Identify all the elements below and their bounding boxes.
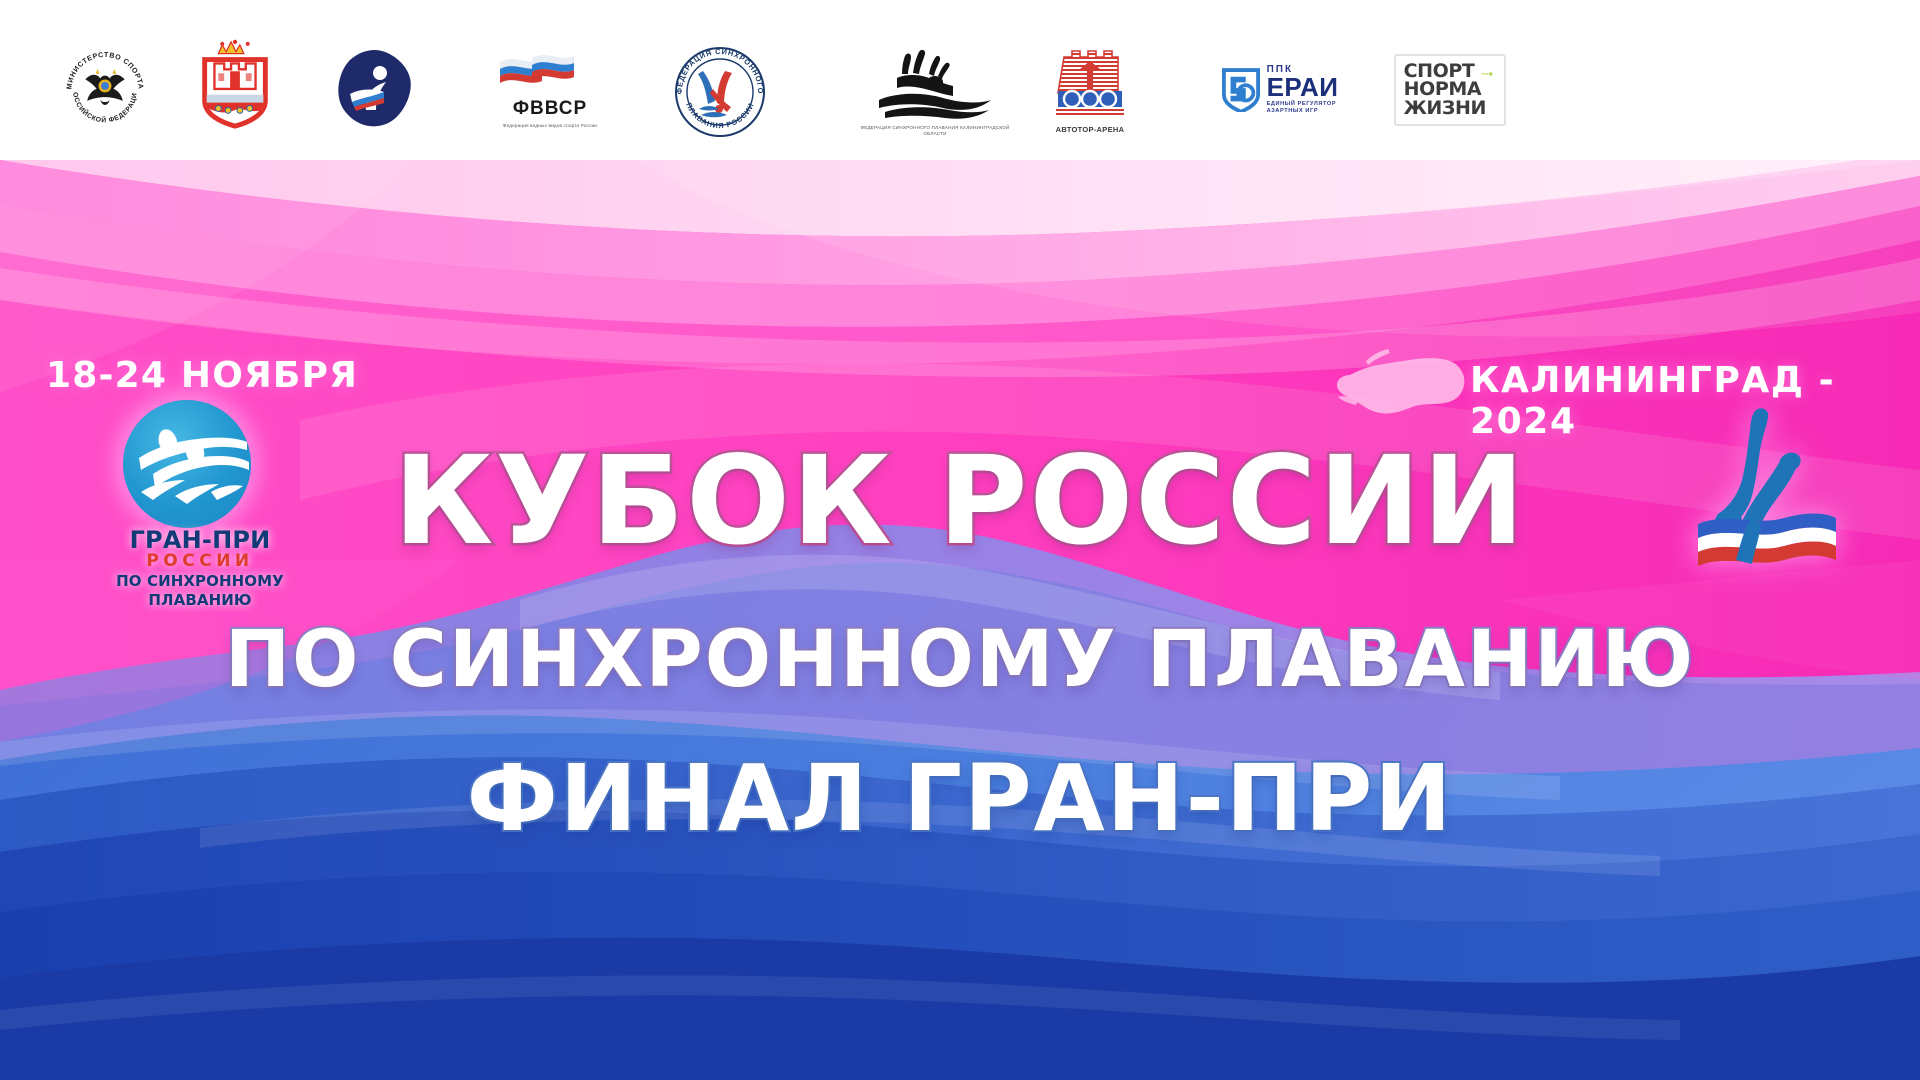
- sponsor-vfso-logo: [330, 48, 420, 128]
- grand-prix-line-3: ПО СИНХРОННОМУ: [95, 573, 305, 590]
- title-line-1: КУБОК РОССИИ: [0, 430, 1920, 572]
- erai-tagline-2: АЗАРТНЫХ ИГР: [1267, 109, 1339, 115]
- avtotor-arena-caption: АВТОТОР-АРЕНА: [1056, 126, 1125, 135]
- snz-word-norma: НОРМА: [1404, 80, 1497, 98]
- sponsor-avtotor-arena-logo: АВТОТОР-АРЕНА: [1035, 40, 1145, 140]
- sponsor-kaliningrad-coat-of-arms-logo: [185, 38, 285, 130]
- snz-word-zhizni: ЖИЗНИ: [1404, 99, 1497, 117]
- erai-shield-icon: [1222, 68, 1260, 112]
- synchro-swimmers-silhouette-icon: [875, 48, 995, 122]
- sponsor-minsport-russia-logo: МИНИСТЕРСТВО СПОРТА РОССИЙСКОЙ ФЕДЕРАЦИИ: [50, 42, 160, 128]
- sponsor-logo-bar: МИНИСТЕРСТВО СПОРТА РОССИЙСКОЙ ФЕДЕРАЦИИ: [0, 0, 1920, 160]
- avtotor-arena-icon: [1046, 45, 1134, 123]
- grand-prix-line-4: ПЛАВАНИЮ: [95, 592, 305, 609]
- minsport-emblem-icon: МИНИСТЕРСТВО СПОРТА РОССИЙСКОЙ ФЕДЕРАЦИИ: [57, 42, 153, 128]
- banner-poster: МИНИСТЕРСТВО СПОРТА РОССИЙСКОЙ ФЕДЕРАЦИИ: [0, 0, 1920, 1080]
- title-line-2: ПО СИНХРОННОМУ ПЛАВАНИЮ: [0, 615, 1920, 705]
- fvvsr-tagline: Федерация водных видов спорта России: [503, 123, 597, 129]
- banner-content: 18-24 НОЯБРЯ КАЛИНИНГРАД - 2024: [0, 0, 1920, 1080]
- title-line-3: ФИНАЛ ГРАН-ПРИ: [0, 745, 1920, 852]
- fvvsr-wordmark: ФВВСР: [513, 98, 587, 120]
- arrow-right-icon: →: [1477, 63, 1496, 80]
- federation-synchro-kaliningrad-caption: ФЕДЕРАЦИЯ СИНХРОННОГО ПЛАВАНИЯ КАЛИНИНГР…: [860, 125, 1010, 136]
- vfso-pentagon-icon: [336, 48, 414, 128]
- sponsor-federation-synchro-kaliningrad-logo: ФЕДЕРАЦИЯ СИНХРОННОГО ПЛАВАНИЯ КАЛИНИНГР…: [860, 44, 1010, 140]
- federation-synchro-russia-icon: ФЕДЕРАЦИЯ СИНХРОННОГО ПЛАВАНИЯ РОССИИ: [673, 45, 767, 139]
- kaliningrad-coat-of-arms-icon: [192, 38, 278, 130]
- sponsor-federation-synchro-russia-logo: ФЕДЕРАЦИЯ СИНХРОННОГО ПЛАВАНИЯ РОССИИ: [670, 44, 770, 140]
- sponsor-sport-norma-zhizni-logo: СПОРТ → НОРМА ЖИЗНИ: [1395, 45, 1505, 135]
- sponsor-ppk-erai-logo: ППК ЕРАИ ЕДИНЫЙ РЕГУЛЯТОР АЗАРТНЫХ ИГР: [1210, 55, 1350, 125]
- event-dates: 18-24 НОЯБРЯ: [46, 355, 358, 396]
- erai-tagline-1: ЕДИНЫЙ РЕГУЛЯТОР: [1267, 102, 1339, 108]
- fvvsr-flags-icon: [494, 52, 606, 98]
- kaliningrad-region-map-icon: [1330, 345, 1480, 430]
- erai-wordmark: ЕРАИ: [1267, 75, 1339, 100]
- sponsor-fvvsr-logo: ФВВСР Федерация водных видов спорта Росс…: [485, 46, 615, 134]
